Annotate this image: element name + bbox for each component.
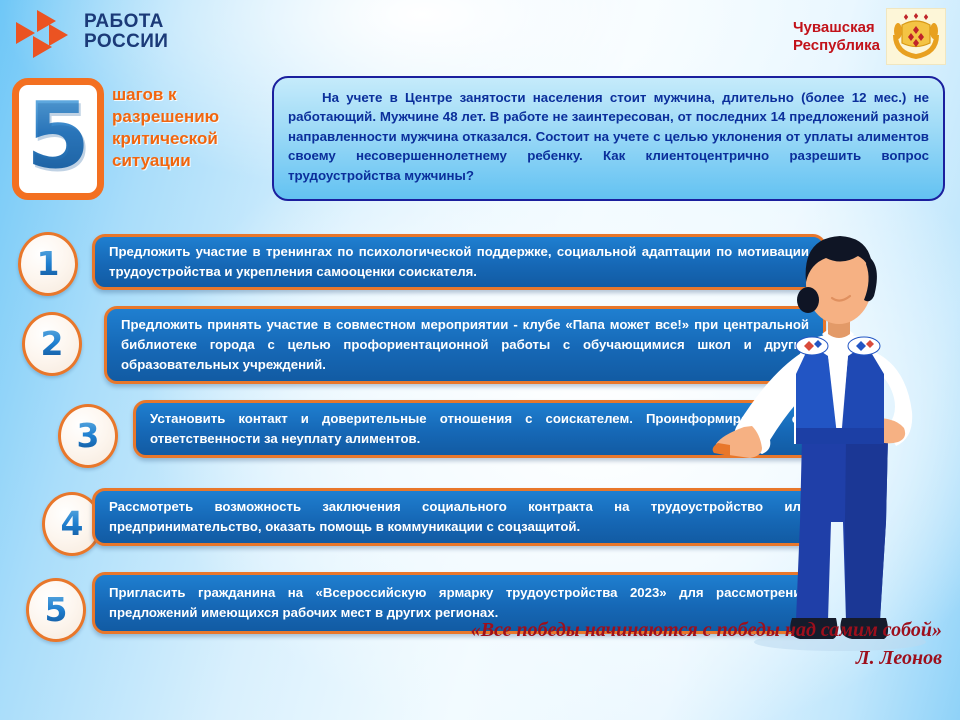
case-question-box: На учете в Центре занятости населения ст… [272, 76, 945, 201]
region-name: Чувашская Республика [793, 19, 880, 55]
step-number-1: 1 [37, 247, 60, 280]
infographic-slide: РАБОТА РОССИИ Чувашская Республика [0, 0, 960, 720]
quote-block: «Все победы начинаются с победы над сами… [382, 616, 942, 672]
work-russia-logo: РАБОТА РОССИИ [16, 10, 168, 54]
page-title: шагов к разрешению критической ситуации [112, 84, 262, 172]
step-badge-1: 1 [18, 232, 78, 296]
step-number-4: 4 [61, 507, 84, 540]
logo-text: РАБОТА РОССИИ [84, 12, 168, 52]
step-badge-3: 3 [58, 404, 118, 468]
region-identity: Чувашская Республика [793, 8, 946, 65]
region-name-line1: Чувашская [793, 19, 880, 37]
woman-employment-consultant-illustration [700, 222, 958, 652]
step-number-3: 3 [77, 419, 100, 452]
logo-text-line2: РОССИИ [84, 32, 168, 52]
logo-text-line1: РАБОТА [84, 12, 168, 32]
quote-text: «Все победы начинаются с победы над сами… [471, 619, 942, 641]
step-badge-5: 5 [26, 578, 86, 642]
steps-count-number: 5 [26, 90, 90, 182]
quote-author: Л. Леонов [382, 644, 942, 672]
chuvash-republic-coat-of-arms-icon [886, 8, 946, 65]
step-number-5: 5 [45, 593, 68, 626]
case-question-text: На учете в Центре занятости населения ст… [288, 88, 929, 185]
step-badge-2: 2 [22, 312, 82, 376]
work-russia-triangles-icon [16, 10, 74, 54]
steps-count-box: 5 [12, 78, 104, 200]
region-name-line2: Республика [793, 37, 880, 55]
step-number-2: 2 [41, 327, 64, 360]
